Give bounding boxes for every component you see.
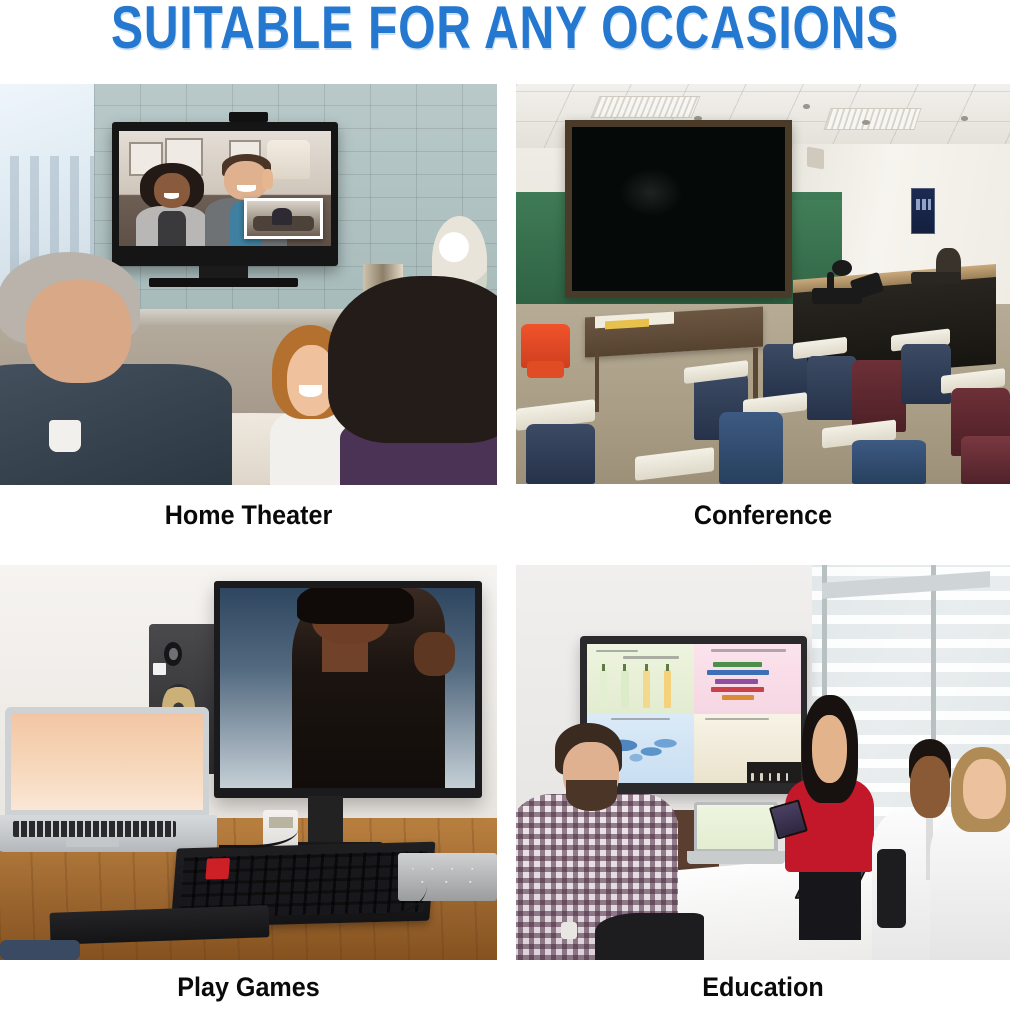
av-equipment	[812, 288, 861, 304]
webcam	[229, 112, 269, 122]
face	[812, 715, 848, 784]
projection-screen	[565, 120, 791, 298]
knob[interactable]	[469, 881, 472, 883]
caption-home-theater: Home Theater	[17, 500, 479, 531]
student-chair	[807, 356, 856, 420]
presenter-woman	[793, 695, 867, 940]
knob[interactable]	[431, 868, 434, 870]
caption-play-games: Play Games	[17, 972, 479, 1003]
head	[26, 280, 131, 382]
hand	[414, 632, 455, 676]
office-chair	[877, 849, 907, 928]
jeans-foreground	[0, 940, 80, 960]
laptop-trackpad	[66, 838, 119, 847]
ceiling-light	[824, 108, 922, 130]
tv-screen	[119, 131, 332, 246]
office-chair	[595, 913, 704, 960]
smile	[164, 193, 179, 199]
photo-conference[interactable]	[516, 84, 1010, 484]
hair	[297, 588, 414, 624]
face	[910, 756, 950, 818]
video-call-woman	[140, 163, 204, 246]
table-leg	[595, 348, 599, 412]
monitor-screen	[220, 588, 475, 788]
caption-conference: Conference	[533, 500, 992, 531]
tweeter	[164, 642, 182, 666]
hair	[328, 276, 497, 443]
promo-infographic: SUITABLE FOR ANY OCCASIONS	[0, 0, 1010, 1010]
face	[963, 759, 1006, 819]
laptop-lid	[5, 707, 209, 818]
ceiling-speaker	[862, 120, 870, 125]
slide-product-lineup	[587, 644, 694, 714]
ceiling-speaker	[961, 116, 969, 121]
speaker-label	[153, 663, 166, 675]
slide-ingredients	[694, 714, 801, 784]
knob[interactable]	[471, 868, 474, 870]
seated-woman-right	[946, 747, 1010, 960]
ceiling-light	[591, 96, 701, 118]
laptop	[694, 802, 778, 865]
waving-hand	[262, 169, 273, 189]
page-title: SUITABLE FOR ANY OCCASIONS	[101, 0, 909, 66]
face	[224, 161, 268, 200]
monitor-stand	[308, 796, 343, 843]
ceiling-speaker	[803, 104, 811, 109]
computer-monitor	[214, 581, 482, 798]
trousers	[799, 867, 861, 940]
student-chair	[719, 412, 783, 484]
photo-play-games[interactable]	[0, 565, 497, 960]
viewer-man	[0, 252, 209, 485]
document-camera	[832, 260, 852, 276]
laptop-lid	[694, 802, 778, 853]
orange-chair	[521, 324, 570, 368]
coffee-mug	[49, 420, 81, 453]
laptop-base	[687, 851, 784, 864]
photo-home-theater[interactable]	[0, 84, 497, 485]
beard	[566, 780, 617, 811]
television	[112, 122, 338, 266]
photo-education[interactable]	[516, 565, 1010, 960]
picture-in-picture	[244, 198, 322, 240]
shirt	[0, 364, 232, 485]
student-chair	[852, 440, 926, 484]
top	[158, 211, 186, 246]
av-equipment	[911, 272, 960, 284]
face	[154, 173, 190, 208]
people	[272, 208, 292, 224]
white-blouse	[930, 815, 1010, 960]
caption-education: Education	[533, 972, 992, 1003]
laptop	[5, 707, 209, 849]
knob[interactable]	[451, 868, 454, 870]
student-chair	[526, 424, 595, 484]
table-leg	[753, 348, 757, 400]
laptop-screen	[11, 713, 203, 811]
viewer-woman	[328, 276, 497, 485]
screen-reflection	[619, 168, 683, 217]
wall-speaker	[807, 146, 824, 169]
laptop-keyboard	[13, 821, 176, 837]
knob[interactable]	[445, 881, 448, 883]
student-chair	[901, 344, 950, 404]
wall-poster	[911, 188, 935, 234]
wristwatch	[561, 922, 577, 939]
red-keycaps	[205, 858, 230, 879]
laptop-screen	[697, 805, 774, 848]
student-chair-red	[961, 436, 1010, 484]
slide-bar-chart	[694, 644, 801, 714]
smile	[237, 185, 256, 191]
